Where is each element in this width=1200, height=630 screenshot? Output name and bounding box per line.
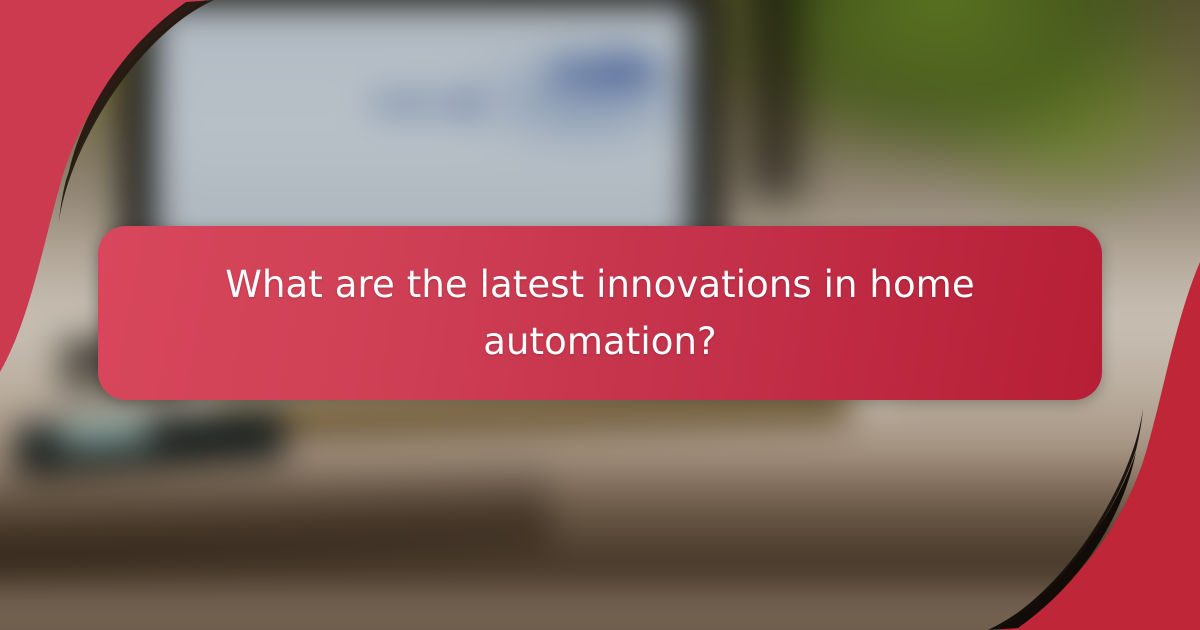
screen-element — [372, 96, 442, 112]
page-title: What are the latest innovations in home … — [154, 256, 1046, 370]
promo-banner: What are the latest innovations in home … — [0, 0, 1200, 630]
screen-element — [555, 65, 660, 83]
headline-card: What are the latest innovations in home … — [98, 226, 1102, 400]
screen-toolbar-line — [178, 28, 658, 35]
screen-element — [450, 92, 480, 118]
background-post — [740, 0, 810, 200]
